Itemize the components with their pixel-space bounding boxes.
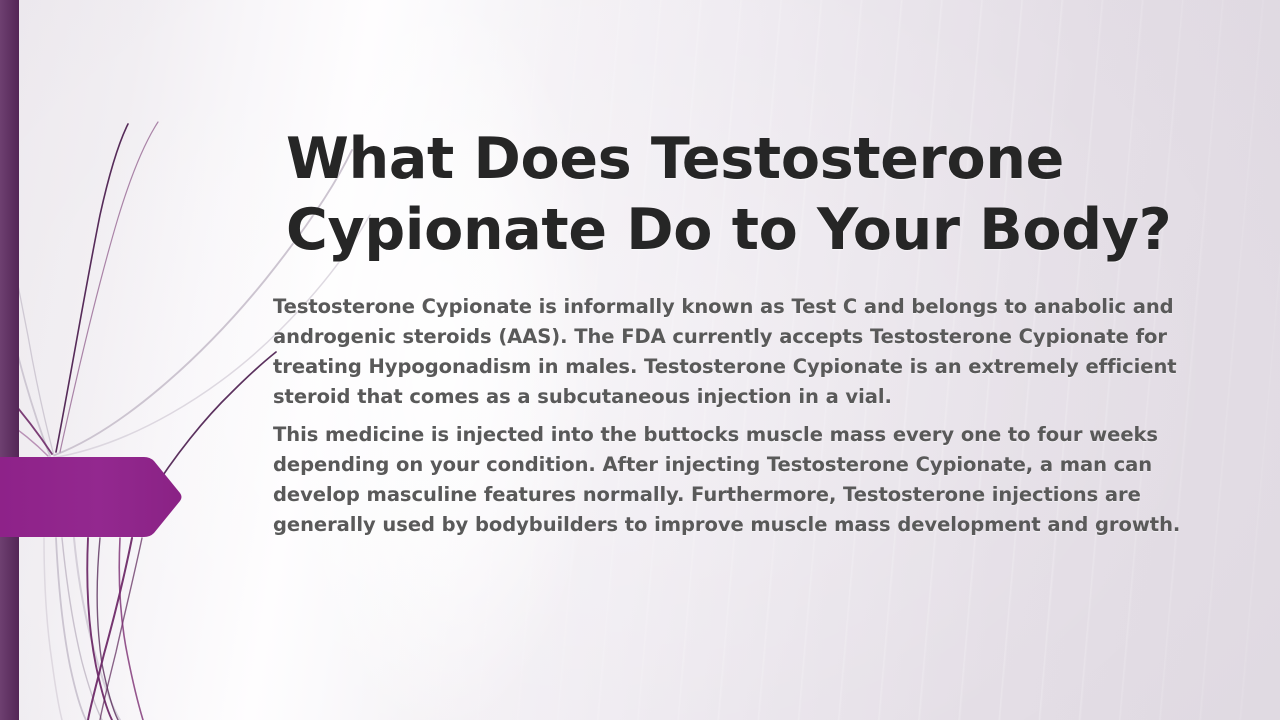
left-accent-bar [0,0,19,720]
slide-title: What Does Testosterone Cypionate Do to Y… [286,124,1236,266]
body-paragraph-2: This medicine is injected into the butto… [273,420,1198,540]
slide-body: Testosterone Cypionate is informally kno… [273,292,1198,540]
body-paragraph-1: Testosterone Cypionate is informally kno… [273,292,1198,412]
left-accent-bar-sheen [0,0,19,720]
slide-canvas: What Does Testosterone Cypionate Do to Y… [0,0,1280,720]
